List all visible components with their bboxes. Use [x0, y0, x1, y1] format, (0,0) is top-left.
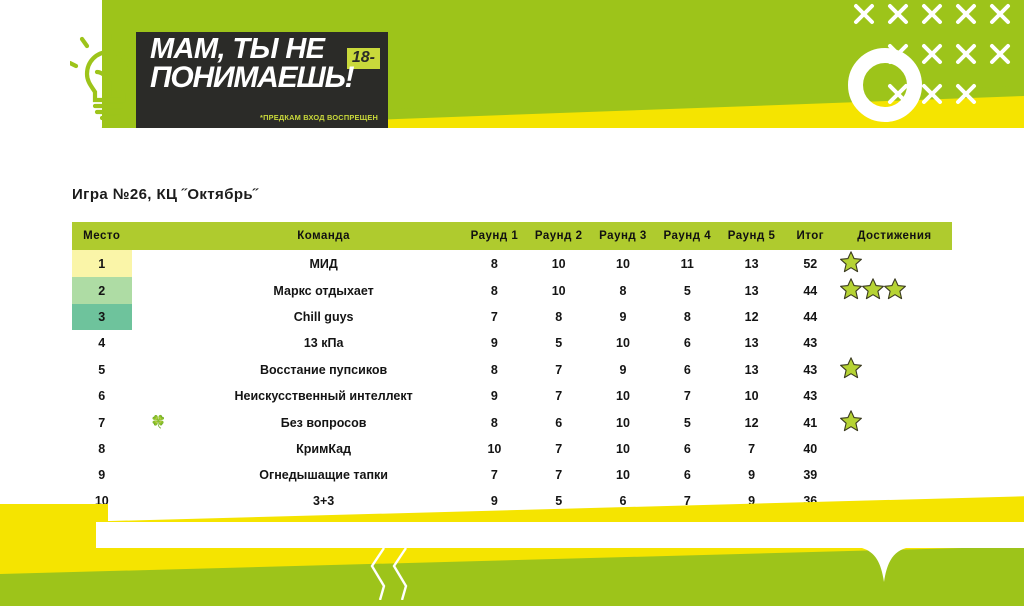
cell-luck-charm	[132, 436, 185, 462]
cell-team-name: МИД	[185, 250, 462, 277]
cell-round-4: 6	[655, 356, 719, 383]
cell-round-1: 8	[462, 356, 526, 383]
page-title: Игра №26, КЦ ˝Октябрь˝	[72, 186, 258, 203]
col-header-round4: Раунд 4	[655, 222, 719, 250]
achievement-star-icon	[883, 277, 907, 301]
logo-tagline: *ПРЕДКАМ ВХОД ВОСПРЕЩЕН	[260, 113, 378, 122]
cell-place: 3	[72, 304, 132, 330]
table-body: 1МИД810101113522Маркс отдыхает8108513443…	[72, 250, 952, 514]
table-row: 5Восстание пупсиков87961343	[72, 356, 952, 383]
cell-round-2: 7	[527, 436, 591, 462]
achievement-star-icon	[839, 250, 863, 274]
ring-decoration	[848, 48, 922, 122]
cell-round-2: 5	[527, 330, 591, 356]
cell-total: 40	[784, 436, 837, 462]
cell-team-name: Маркс отдыхает	[185, 277, 462, 304]
cell-total: 43	[784, 356, 837, 383]
cell-round-3: 10	[591, 462, 655, 488]
table-row: 6Неискусственный интеллект971071043	[72, 383, 952, 409]
cell-round-4: 6	[655, 330, 719, 356]
cell-achievements	[837, 409, 952, 436]
col-header-round2: Раунд 2	[527, 222, 591, 250]
cell-team-name: Восстание пупсиков	[185, 356, 462, 383]
cell-round-3: 8	[591, 277, 655, 304]
cell-round-3: 10	[591, 330, 655, 356]
cell-place: 1	[72, 250, 132, 277]
cell-round-2: 8	[527, 304, 591, 330]
cell-round-5: 13	[719, 277, 783, 304]
cell-team-name: Без вопросов	[185, 409, 462, 436]
logo-line-2: ПОНИМАЕШЬ!	[150, 64, 380, 93]
cell-team-name: Неискусственный интеллект	[185, 383, 462, 409]
cell-round-3: 9	[591, 304, 655, 330]
cell-round-4: 8	[655, 304, 719, 330]
cell-round-1: 7	[462, 462, 526, 488]
table-row: 8КримКад107106740	[72, 436, 952, 462]
cell-luck-charm	[132, 462, 185, 488]
cell-place: 2	[72, 277, 132, 304]
cell-achievements	[837, 462, 952, 488]
table-row: 413 кПа951061343	[72, 330, 952, 356]
cell-place: 5	[72, 356, 132, 383]
cell-round-4: 5	[655, 277, 719, 304]
cell-round-1: 8	[462, 409, 526, 436]
col-header-luck	[132, 222, 185, 250]
col-header-achievements: Достижения	[837, 222, 952, 250]
cell-round-3: 10	[591, 409, 655, 436]
cell-achievements	[837, 304, 952, 330]
clover-icon: 🍀	[132, 409, 185, 436]
col-header-round3: Раунд 3	[591, 222, 655, 250]
cell-round-2: 7	[527, 356, 591, 383]
cell-total: 52	[784, 250, 837, 277]
cell-round-5: 13	[719, 356, 783, 383]
cell-round-2: 10	[527, 250, 591, 277]
cell-round-2: 7	[527, 383, 591, 409]
cell-round-5: 13	[719, 250, 783, 277]
cell-round-5: 7	[719, 436, 783, 462]
cell-achievements	[837, 330, 952, 356]
achievement-stars	[839, 409, 861, 433]
cell-round-2: 7	[527, 462, 591, 488]
cell-achievements	[837, 383, 952, 409]
col-header-total: Итог	[784, 222, 837, 250]
achievement-stars	[839, 277, 905, 301]
cell-achievements	[837, 356, 952, 383]
cell-total: 39	[784, 462, 837, 488]
cell-luck-charm	[132, 356, 185, 383]
cell-round-5: 13	[719, 330, 783, 356]
cell-round-3: 9	[591, 356, 655, 383]
cell-achievements	[837, 436, 952, 462]
col-header-round1: Раунд 1	[462, 222, 526, 250]
achievement-star-icon	[839, 356, 863, 380]
cell-luck-charm	[132, 330, 185, 356]
cell-luck-charm	[132, 488, 185, 514]
cell-round-5: 12	[719, 304, 783, 330]
cell-place: 7	[72, 409, 132, 436]
table-header-row: Место Команда Раунд 1 Раунд 2 Раунд 3 Ра…	[72, 222, 952, 250]
logo-wordmark: МАМ, ТЫ НЕ ПОНИМАЕШЬ!	[150, 36, 380, 93]
table-row: 3Chill guys78981244	[72, 304, 952, 330]
cell-round-1: 9	[462, 330, 526, 356]
cell-round-4: 6	[655, 462, 719, 488]
cell-luck-charm	[132, 277, 185, 304]
table-row: 7🍀Без вопросов861051241	[72, 409, 952, 436]
cell-round-3: 10	[591, 250, 655, 277]
cell-total: 43	[784, 330, 837, 356]
cell-achievements	[837, 250, 952, 277]
cell-round-2: 10	[527, 277, 591, 304]
cell-round-1: 9	[462, 383, 526, 409]
cell-place: 4	[72, 330, 132, 356]
cell-total: 43	[784, 383, 837, 409]
col-header-round5: Раунд 5	[719, 222, 783, 250]
cell-round-5: 12	[719, 409, 783, 436]
cell-round-1: 7	[462, 304, 526, 330]
cell-place: 9	[72, 462, 132, 488]
cell-team-name: 3+3	[185, 488, 462, 514]
achievement-star-icon	[839, 409, 863, 433]
screenshot-stage: 18- *ПРЕДКАМ ВХОД ВОСПРЕЩЕН МАМ, ТЫ НЕ П…	[0, 0, 1024, 606]
logo-line-1: МАМ, ТЫ НЕ	[150, 36, 380, 64]
cell-team-name: Огнедышащие тапки	[185, 462, 462, 488]
cell-round-3: 10	[591, 436, 655, 462]
cell-round-2: 6	[527, 409, 591, 436]
cell-team-name: Chill guys	[185, 304, 462, 330]
table-row: 1МИД81010111352	[72, 250, 952, 277]
col-header-team: Команда	[185, 222, 462, 250]
achievement-star-icon	[839, 277, 863, 301]
cell-round-1: 8	[462, 250, 526, 277]
cell-round-1: 8	[462, 277, 526, 304]
achievement-stars	[839, 250, 861, 274]
footer-yellow-left-block	[0, 504, 108, 568]
cell-round-4: 5	[655, 409, 719, 436]
cell-round-4: 7	[655, 383, 719, 409]
cell-luck-charm	[132, 250, 185, 277]
cell-round-4: 6	[655, 436, 719, 462]
cell-achievements	[837, 277, 952, 304]
table-row: 2Маркс отдыхает810851344	[72, 277, 952, 304]
cell-place: 6	[72, 383, 132, 409]
results-table: Место Команда Раунд 1 Раунд 2 Раунд 3 Ра…	[72, 222, 952, 514]
cell-team-name: 13 кПа	[185, 330, 462, 356]
cell-luck-charm	[132, 304, 185, 330]
achievement-stars	[839, 356, 861, 380]
cell-total: 41	[784, 409, 837, 436]
cell-round-4: 11	[655, 250, 719, 277]
cell-total: 44	[784, 277, 837, 304]
cell-round-5: 9	[719, 462, 783, 488]
cell-place: 8	[72, 436, 132, 462]
brand-logo: 18- *ПРЕДКАМ ВХОД ВОСПРЕЩЕН МАМ, ТЫ НЕ П…	[58, 18, 388, 130]
cell-round-1: 10	[462, 436, 526, 462]
achievement-star-icon	[861, 277, 885, 301]
cell-total: 44	[784, 304, 837, 330]
cell-luck-charm	[132, 383, 185, 409]
cell-round-5: 10	[719, 383, 783, 409]
col-header-place: Место	[72, 222, 132, 250]
cell-round-3: 10	[591, 383, 655, 409]
double-chevron-decoration	[368, 548, 432, 600]
cell-team-name: КримКад	[185, 436, 462, 462]
sparkle-decoration	[862, 522, 906, 582]
table-row: 9Огнедышащие тапки77106939	[72, 462, 952, 488]
